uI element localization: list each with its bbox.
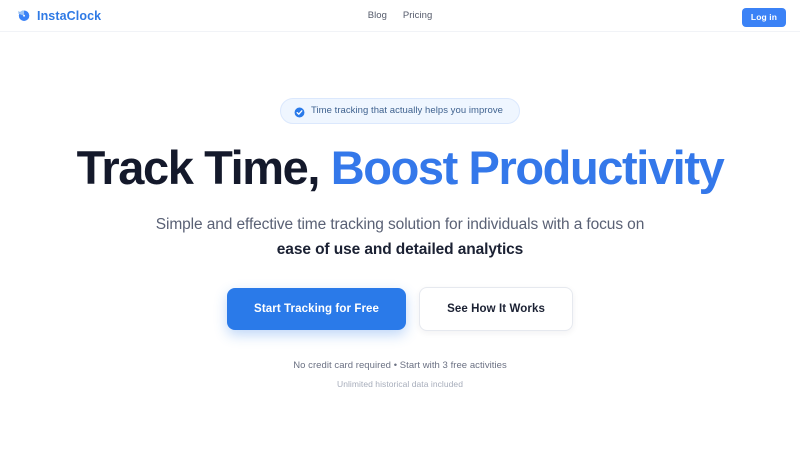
check-circle-icon xyxy=(294,105,305,116)
nav-link-blog[interactable]: Blog xyxy=(368,10,387,21)
start-tracking-button[interactable]: Start Tracking for Free xyxy=(227,288,406,330)
no-credit-card-note: No credit card required • Start with 3 f… xyxy=(0,360,800,371)
subheading-line-2: ease of use and detailed analytics xyxy=(0,241,800,259)
see-how-it-works-button[interactable]: See How It Works xyxy=(419,287,573,331)
primary-nav: Blog Pricing xyxy=(0,0,800,31)
headline-dark: Track Time, xyxy=(77,141,319,194)
nav-link-pricing[interactable]: Pricing xyxy=(403,10,432,21)
cta-button-row: Start Tracking for Free See How It Works xyxy=(0,287,800,331)
tagline-badge: Time tracking that actually helps you im… xyxy=(280,98,520,124)
login-button[interactable]: Log in xyxy=(742,8,786,27)
unlimited-history-note: Unlimited historical data included xyxy=(0,379,800,389)
subheading-line-1: Simple and effective time tracking solut… xyxy=(0,216,800,234)
page-title: Track Time, Boost Productivity xyxy=(0,143,800,192)
hero-section: Time tracking that actually helps you im… xyxy=(0,32,800,389)
headline-accent: Boost Productivity xyxy=(331,141,724,194)
tagline-badge-text: Time tracking that actually helps you im… xyxy=(311,105,503,116)
site-header: InstaClock Blog Pricing Log in xyxy=(0,0,800,32)
